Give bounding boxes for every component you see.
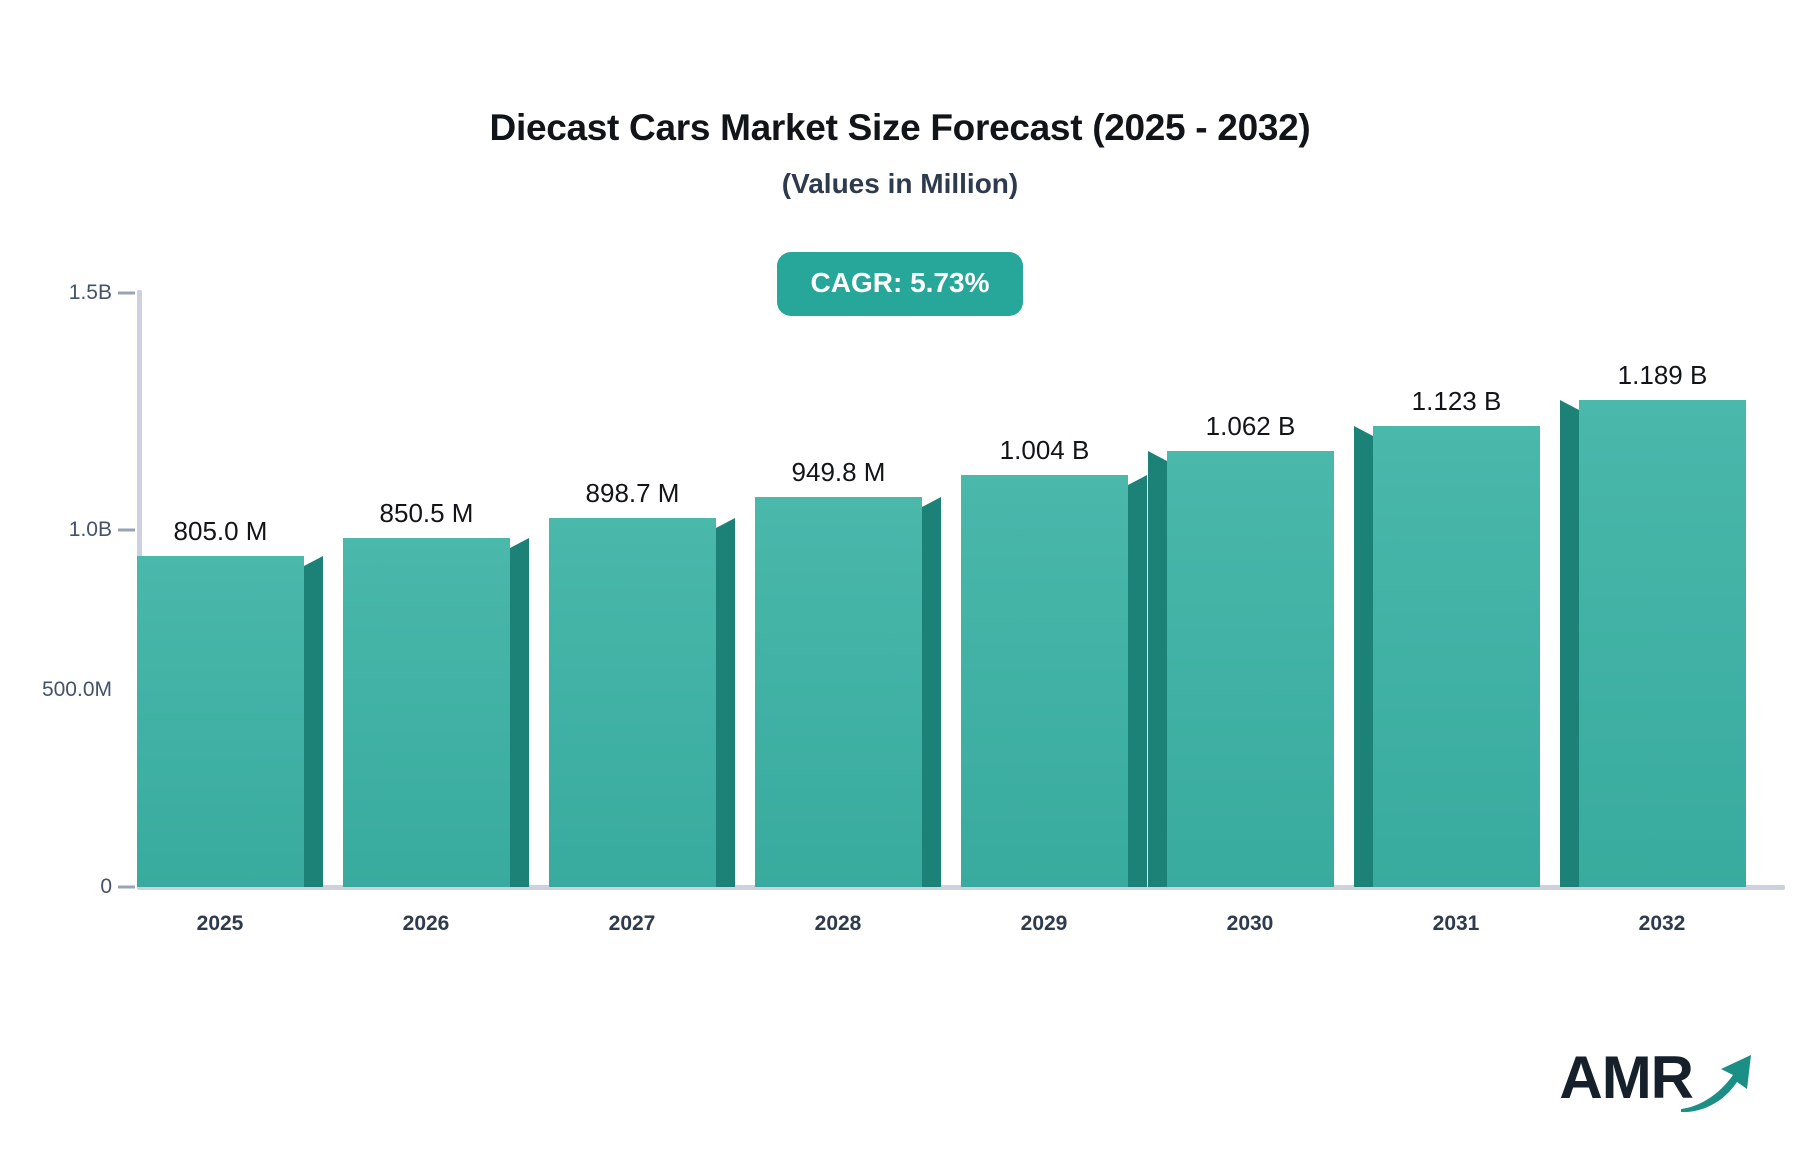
bar-side-face (1560, 400, 1579, 887)
bar-2032[interactable] (1579, 400, 1746, 887)
bar-side-face (304, 556, 323, 887)
bar-front-face (1579, 400, 1746, 887)
bar-value-label-2029: 1.004 B (1000, 435, 1090, 466)
bar-front-face (961, 475, 1128, 887)
bar-2029[interactable] (961, 475, 1128, 887)
bar-slot-2031: 1.123 B (1373, 290, 1540, 887)
bar-value-label-2032: 1.189 B (1618, 360, 1708, 391)
bar-2030[interactable] (1167, 451, 1334, 887)
bar-value-label-2031: 1.123 B (1412, 386, 1502, 417)
bar-value-label-2030: 1.062 B (1206, 411, 1296, 442)
bar-2031[interactable] (1373, 426, 1540, 887)
bar-slot-2029: 1.004 B (961, 290, 1128, 887)
x-tick-label-2028: 2028 (815, 912, 862, 936)
chart-page: Diecast Cars Market Size Forecast (2025 … (0, 0, 1800, 1156)
bar-slot-2032: 1.189 B (1579, 290, 1746, 887)
bar-slot-2025: 805.0 M (137, 290, 304, 887)
y-tick-mark-1 (118, 529, 135, 532)
bar-slot-2027: 898.7 M (549, 290, 716, 887)
bar-value-label-2026: 850.5 M (380, 498, 474, 529)
bar-value-label-2027: 898.7 M (586, 478, 680, 509)
bar-slot-2030: 1.062 B (1167, 290, 1334, 887)
bar-2027[interactable] (549, 518, 716, 887)
bar-2025[interactable] (137, 556, 304, 887)
y-axis-ticks: 1.5B 1.0B 500.0M 0 (0, 0, 112, 1156)
bar-2026[interactable] (343, 538, 510, 887)
x-tick-label-2027: 2027 (609, 912, 656, 936)
bar-front-face (549, 518, 716, 887)
bar-front-face (343, 538, 510, 887)
logo-text: AMR (1559, 1048, 1693, 1108)
bar-value-label-2028: 949.8 M (792, 457, 886, 488)
y-tick-mark-3 (118, 886, 135, 889)
bar-2028[interactable] (755, 497, 922, 887)
bar-front-face (1167, 451, 1334, 887)
y-tick-label-1: 1.0B (0, 518, 112, 542)
bar-front-face (1373, 426, 1540, 887)
bar-slot-2028: 949.8 M (755, 290, 922, 887)
bar-side-face (1354, 426, 1373, 887)
x-tick-label-2029: 2029 (1021, 912, 1068, 936)
bar-side-face (716, 518, 735, 887)
x-axis-labels: 2025 2026 2027 2028 2029 2030 2031 2032 (137, 912, 1785, 952)
bar-side-face (510, 538, 529, 887)
amr-logo: AMR (1559, 1038, 1755, 1118)
bar-front-face (137, 556, 304, 887)
x-tick-label-2026: 2026 (403, 912, 450, 936)
x-tick-label-2032: 2032 (1639, 912, 1686, 936)
x-tick-label-2025: 2025 (197, 912, 244, 936)
bar-front-face (755, 497, 922, 887)
y-tick-label-0: 1.5B (0, 281, 112, 305)
growth-arrow-icon (1679, 1051, 1755, 1118)
bar-value-label-2025: 805.0 M (174, 516, 268, 547)
bar-series: 805.0 M 850.5 M 898.7 M (137, 290, 1785, 887)
y-tick-label-2: 500.0M (0, 678, 112, 702)
bar-slot-2026: 850.5 M (343, 290, 510, 887)
y-tick-label-3: 0 (0, 875, 112, 899)
bar-side-face (922, 497, 941, 887)
plot-area: 1.5B 1.0B 500.0M 0 805.0 M 850.5 M (0, 0, 1800, 1156)
x-tick-label-2030: 2030 (1227, 912, 1274, 936)
y-tick-mark-0 (118, 292, 135, 295)
bar-side-face (1128, 475, 1147, 887)
bar-side-face (1148, 451, 1167, 887)
x-tick-label-2031: 2031 (1433, 912, 1480, 936)
